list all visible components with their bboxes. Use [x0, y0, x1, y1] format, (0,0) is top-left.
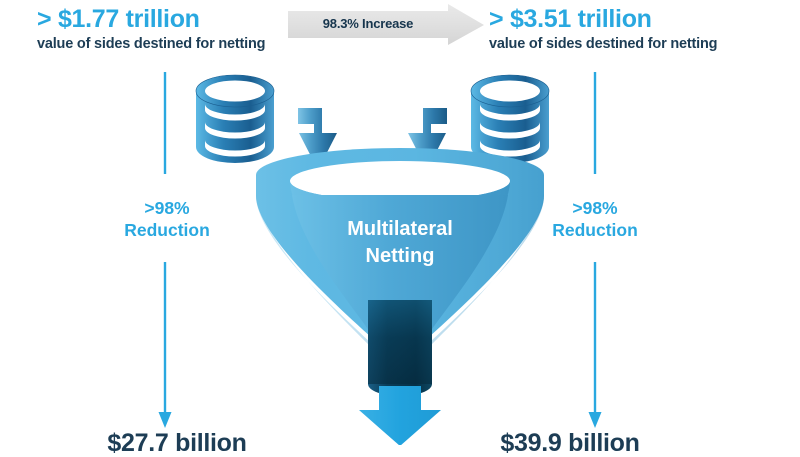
increase-arrow-label: 98.3% Increase	[288, 16, 448, 31]
left-result-block: $27.7 billion	[62, 430, 292, 456]
reduction-right-label: >98% Reduction	[540, 198, 650, 242]
reduction-left-label: >98% Reduction	[112, 198, 222, 242]
connector-left-bottom-arrow	[159, 262, 172, 428]
right-stat-headline: > $3.51 trillion	[489, 6, 717, 32]
left-stat-block: > $1.77 trillion value of sides destined…	[37, 6, 265, 53]
increase-arrow: 98.3% Increase	[288, 7, 484, 43]
left-stat-headline: > $1.77 trillion	[37, 6, 265, 32]
database-right-icon	[471, 75, 549, 163]
infographic-canvas: > $1.77 trillion value of sides destined…	[0, 0, 800, 445]
right-stat-subline: value of sides destined for netting	[489, 37, 717, 53]
connector-right-bottom-arrow	[589, 262, 602, 428]
left-result-value: $27.7 billion	[62, 430, 292, 456]
outflow-arrow-icon	[359, 386, 441, 445]
reduction-left-line2: Reduction	[112, 220, 222, 242]
reduction-right-line2: Reduction	[540, 220, 650, 242]
reduction-right-line1: >98%	[540, 198, 650, 220]
left-stat-subline: value of sides destined for netting	[37, 37, 265, 53]
funnel-stem	[340, 296, 460, 396]
right-result-block: $39.9 billion	[455, 430, 685, 456]
database-left-icon	[196, 75, 274, 163]
reduction-left-line1: >98%	[112, 198, 222, 220]
right-stat-block: > $3.51 trillion value of sides destined…	[489, 6, 717, 53]
right-result-value: $39.9 billion	[455, 430, 685, 456]
